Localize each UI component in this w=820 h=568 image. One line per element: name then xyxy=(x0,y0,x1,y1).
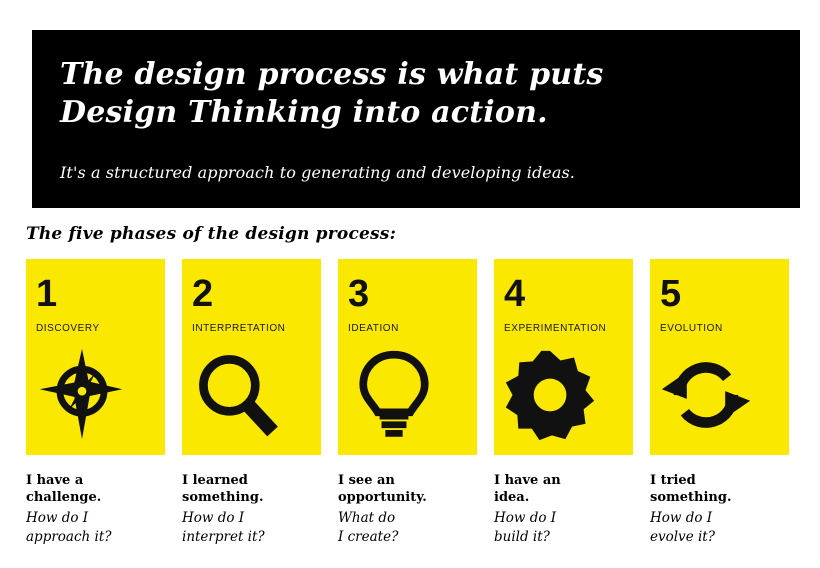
phase-list: 1 DISCOVERY I have a challenge. How do I… xyxy=(26,259,796,547)
phase-number: 2 xyxy=(192,275,321,313)
phase-item-ideation[interactable]: 3 IDEATION I see an opportunity. What do… xyxy=(338,259,477,547)
phase-card[interactable]: 4 EXPERIMENTATION xyxy=(494,259,633,455)
magnifier-icon xyxy=(190,347,286,443)
phase-number: 4 xyxy=(504,275,633,313)
phase-caption: I tried something. How do I evolve it? xyxy=(650,472,789,547)
phase-label: DISCOVERY xyxy=(36,323,165,335)
caption-statement: I have a challenge. xyxy=(26,472,165,506)
phase-card[interactable]: 5 EVOLUTION xyxy=(650,259,789,455)
phase-label: EXPERIMENTATION xyxy=(504,323,633,335)
caption-statement: I see an opportunity. xyxy=(338,472,477,506)
phase-number: 3 xyxy=(348,275,477,313)
phase-caption: I see an opportunity. What do I create? xyxy=(338,472,477,547)
phase-item-interpretation[interactable]: 2 INTERPRETATION I learned something. Ho… xyxy=(182,259,321,547)
caption-question: How do I build it? xyxy=(494,509,633,547)
compass-icon xyxy=(34,347,130,443)
phase-card[interactable]: 2 INTERPRETATION xyxy=(182,259,321,455)
caption-statement: I have an idea. xyxy=(494,472,633,506)
banner-subline: It's a structured approach to generating… xyxy=(60,163,770,182)
caption-statement: I tried something. xyxy=(650,472,789,506)
gear-icon xyxy=(502,347,598,443)
caption-question: What do I create? xyxy=(338,509,477,547)
phase-label: IDEATION xyxy=(348,323,477,335)
phase-number: 5 xyxy=(660,275,789,313)
caption-question: How do I evolve it? xyxy=(650,509,789,547)
lightbulb-icon xyxy=(346,347,442,443)
hero-banner: The design process is what puts Design T… xyxy=(32,30,800,208)
banner-headline: The design process is what puts Design T… xyxy=(60,56,770,133)
phase-card[interactable]: 1 DISCOVERY xyxy=(26,259,165,455)
phase-caption: I have an idea. How do I build it? xyxy=(494,472,633,547)
phase-caption: I have a challenge. How do I approach it… xyxy=(26,472,165,547)
phase-item-experimentation[interactable]: 4 EXPERIMENTATION I have an idea. How do… xyxy=(494,259,633,547)
phase-caption: I learned something. How do I interpret … xyxy=(182,472,321,547)
phase-label: EVOLUTION xyxy=(660,323,789,335)
caption-statement: I learned something. xyxy=(182,472,321,506)
phase-card[interactable]: 3 IDEATION xyxy=(338,259,477,455)
phase-number: 1 xyxy=(36,275,165,313)
section-heading: The five phases of the design process: xyxy=(26,224,396,244)
phase-label: INTERPRETATION xyxy=(192,323,321,335)
phase-item-discovery[interactable]: 1 DISCOVERY I have a challenge. How do I… xyxy=(26,259,165,547)
phase-item-evolution[interactable]: 5 EVOLUTION I tried something. How do I … xyxy=(650,259,789,547)
caption-question: How do I interpret it? xyxy=(182,509,321,547)
cycle-arrows-icon xyxy=(658,347,754,443)
caption-question: How do I approach it? xyxy=(26,509,165,547)
